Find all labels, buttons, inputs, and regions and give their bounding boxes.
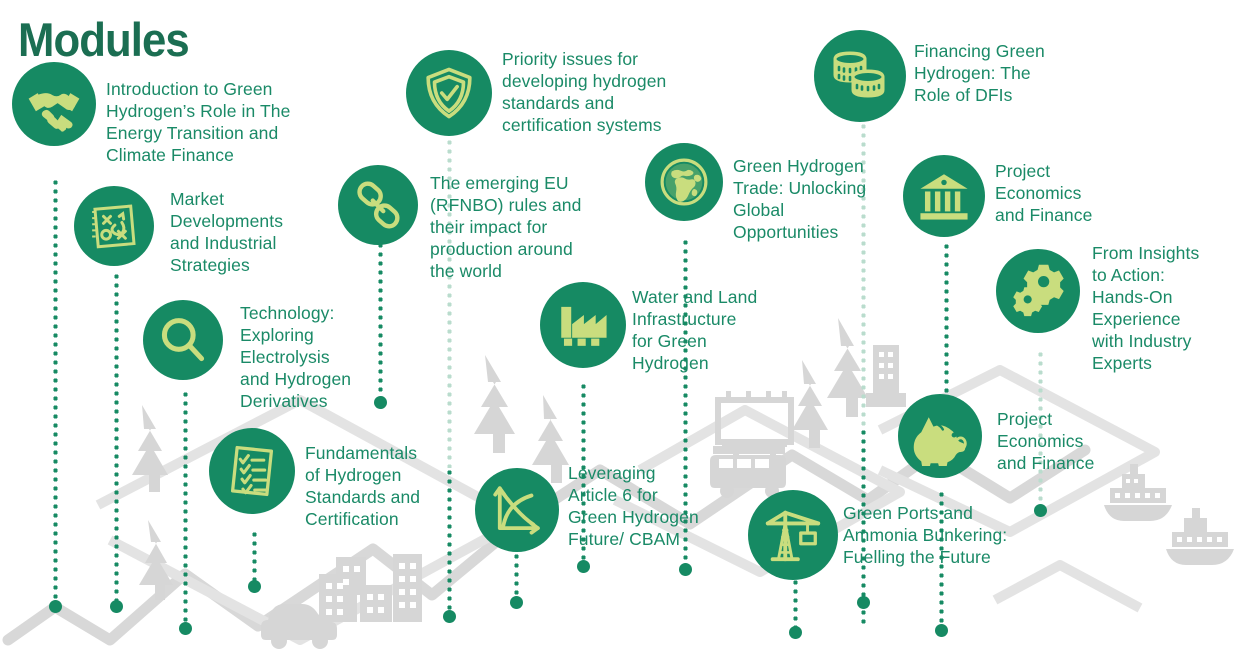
stem-module-1 xyxy=(53,178,58,606)
module-5-label: The emerging EU (RFNBO) rules and their … xyxy=(430,172,615,282)
module-4-label: Fundamentals of Hydrogen Standards and C… xyxy=(305,442,475,530)
stem-module-8 xyxy=(514,552,519,602)
module-9-label: Green Hydrogen Trade: Unlocking Global O… xyxy=(733,155,883,243)
ship xyxy=(1166,508,1234,565)
stem-module-3 xyxy=(183,390,188,628)
module-14-label: Green Ports and Ammonia Bunkering: Fuell… xyxy=(843,502,1038,568)
stem-module-2 xyxy=(114,272,119,606)
coins-icon xyxy=(814,30,906,122)
module-1-label: Introduction to Green Hydrogen’s Role in… xyxy=(106,78,316,166)
stem-endpoint-8 xyxy=(510,596,523,609)
stem-endpoint-10 xyxy=(857,596,870,609)
tree xyxy=(474,355,515,453)
stem-endpoint-6 xyxy=(443,610,456,623)
page-title: Modules xyxy=(18,16,189,63)
piggy-bank-icon xyxy=(898,394,982,478)
stem-endpoint-1 xyxy=(49,600,62,613)
tree xyxy=(532,395,569,483)
bank-icon xyxy=(903,155,985,237)
globe-icon xyxy=(645,143,723,221)
stem-module-14 xyxy=(793,578,798,632)
handshake-icon xyxy=(12,62,96,146)
module-7-label: Water and Land Infrastructure for Green … xyxy=(632,286,807,374)
stem-endpoint-7 xyxy=(577,560,590,573)
module-11-label: Project Economics and Finance xyxy=(995,160,1145,226)
module-3-label: Technology: Exploring Electrolysis and H… xyxy=(240,302,400,412)
stem-module-4 xyxy=(252,530,257,586)
module-10-label: Financing Green Hydrogen: The Role of DF… xyxy=(914,40,1074,106)
stem-endpoint-9 xyxy=(679,563,692,576)
module-12-label: From Insights to Action: Hands-On Experi… xyxy=(1092,242,1232,374)
infographic-canvas: Modules xyxy=(0,0,1235,669)
stem-endpoint-2 xyxy=(110,600,123,613)
module-8-label: Leveraging Article 6 for Green Hydrogen … xyxy=(568,462,728,550)
stem-endpoint-3 xyxy=(179,622,192,635)
stem-endpoint-13 xyxy=(935,624,948,637)
module-13-label: Project Economics and Finance xyxy=(997,408,1147,474)
checklist-icon xyxy=(209,428,295,514)
crane-icon xyxy=(748,490,838,580)
magnifier-icon xyxy=(143,300,223,380)
module-6-label: Priority issues for developing hydrogen … xyxy=(502,48,702,136)
module-2-label: Market Developments and Industrial Strat… xyxy=(170,188,330,276)
shield-check-icon xyxy=(406,50,492,136)
stem-endpoint-14 xyxy=(789,626,802,639)
factory-icon xyxy=(540,282,626,368)
gears-icon xyxy=(996,249,1080,333)
stem-module-11 xyxy=(944,242,949,414)
graph-curves-icon xyxy=(475,468,559,552)
stem-endpoint-4 xyxy=(248,580,261,593)
chain-link-icon xyxy=(338,165,418,245)
strategy-board-icon xyxy=(74,186,154,266)
